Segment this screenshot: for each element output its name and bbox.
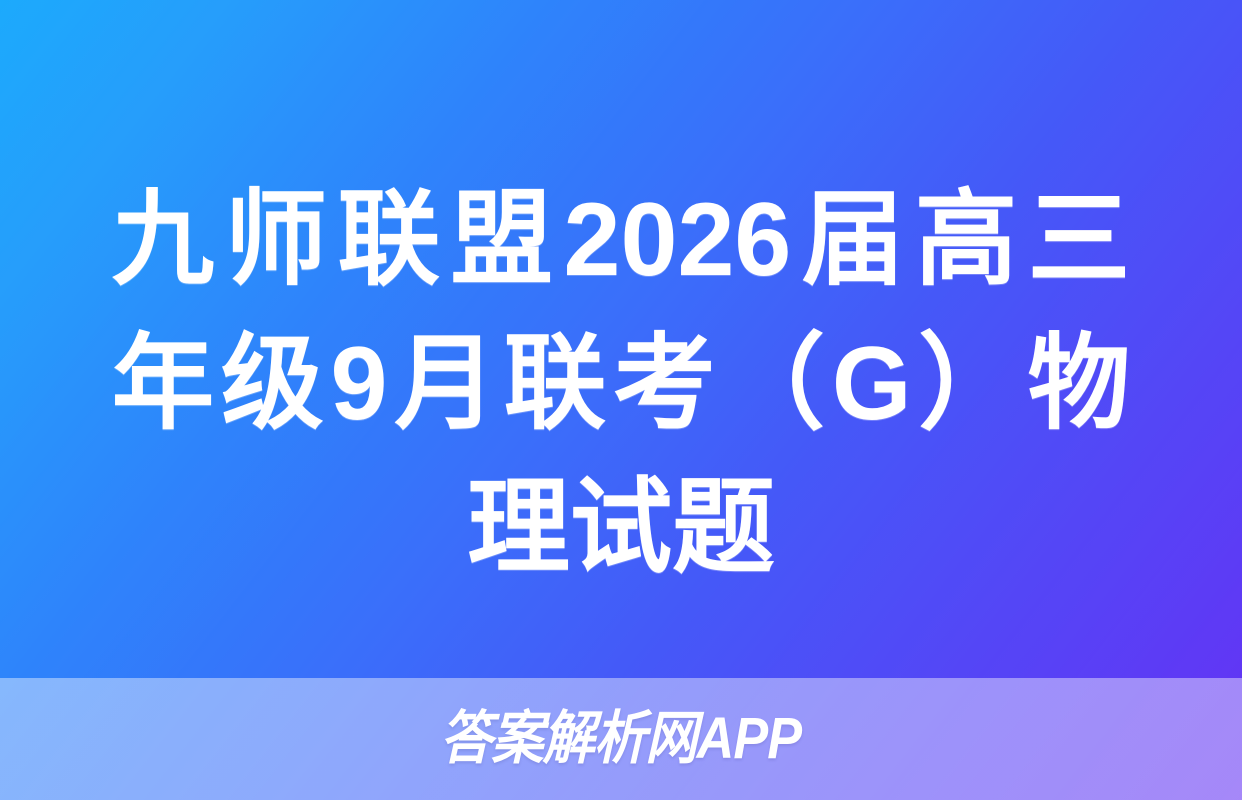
watermark-brand-text: 答案解析网APP — [440, 708, 801, 770]
exam-cover-card: 九师联盟2026届高三年级9月联考（G）物理试题 答案解析网APP — [0, 0, 1242, 800]
title-block: 九师联盟2026届高三年级9月联考（G）物理试题 — [0, 168, 1242, 600]
exam-title: 九师联盟2026届高三年级9月联考（G）物理试题 — [112, 168, 1130, 600]
watermark-banner: 答案解析网APP — [0, 678, 1242, 800]
